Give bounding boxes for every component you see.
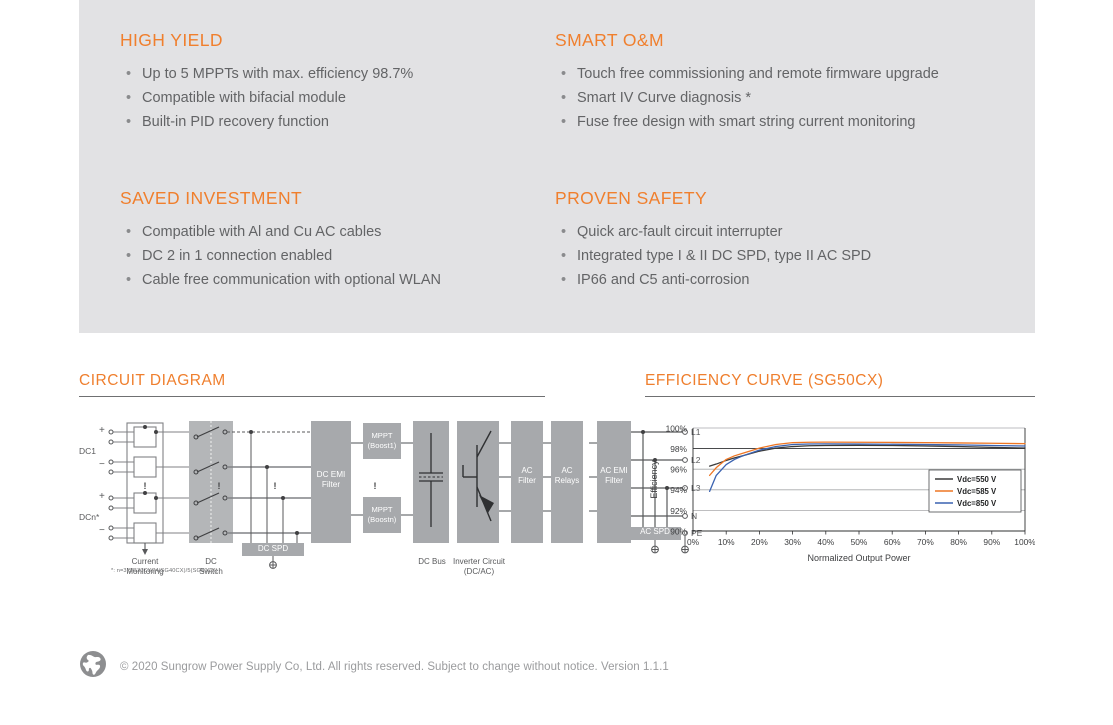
feature-list-proven-safety: •Quick arc-fault circuit interrupter •In…	[555, 222, 1010, 291]
block-inverter-circuit	[457, 421, 499, 543]
feature-list-saved-investment: •Compatible with Al and Cu AC cables •DC…	[120, 222, 555, 291]
bullet-icon: •	[561, 246, 566, 267]
bullet-icon: •	[126, 88, 131, 109]
block-label-dc-spd: DC SPD	[242, 544, 304, 553]
feature-item: •Fuse free design with smart string curr…	[555, 112, 1007, 133]
x-axis-tick-label: 50%	[851, 537, 868, 547]
feature-item: •Quick arc-fault circuit interrupter	[555, 222, 1007, 243]
section-title-efficiency-curve: EFFICIENCY CURVE (SG50CX)	[645, 372, 883, 390]
y-axis-tick-label: 90%	[670, 526, 687, 536]
feature-title-smart-om: SMART O&M	[555, 30, 1010, 51]
x-axis-tick-label: 40%	[817, 537, 834, 547]
feature-list-smart-om: •Touch free commissioning and remote fir…	[555, 64, 1010, 133]
bullet-icon: •	[126, 222, 131, 243]
x-axis-tick-label: 100%	[1014, 537, 1035, 547]
feature-block-saved-investment: SAVED INVESTMENT •Compatible with Al and…	[120, 188, 555, 294]
x-axis-tick-label: 20%	[751, 537, 768, 547]
svg-text:(Boostn): (Boostn)	[368, 515, 397, 524]
y-axis-tick-label: 96%	[670, 465, 687, 475]
page-footer: © 2020 Sungrow Power Supply Co, Ltd. All…	[79, 650, 669, 683]
warning-icon: !	[374, 481, 377, 491]
terminal-plus-dc1: +	[99, 425, 105, 436]
bullet-icon: •	[561, 270, 566, 291]
legend-label: Vdc=550 V	[957, 475, 997, 484]
feature-item: •Built-in PID recovery function	[120, 112, 555, 133]
feature-block-high-yield: HIGH YIELD •Up to 5 MPPTs with max. effi…	[120, 30, 555, 136]
feature-list-high-yield: •Up to 5 MPPTs with max. efficiency 98.7…	[120, 64, 555, 133]
feature-item-text: Cable free communication with optional W…	[142, 272, 441, 288]
feature-item: •Compatible with bifacial module	[120, 88, 555, 109]
circuit-footnote: *: n=3(SG33CX)/4(SG40CX)/5(SG50CX)	[111, 568, 218, 574]
terminal-minus-dcn: −	[99, 525, 105, 536]
feature-highlights-panel: HIGH YIELD •Up to 5 MPPTs with max. effi…	[79, 0, 1035, 333]
x-axis-title: Normalized Output Power	[807, 553, 910, 563]
bullet-icon: •	[561, 112, 566, 133]
svg-text:Filter: Filter	[322, 480, 340, 489]
bullet-icon: •	[126, 64, 131, 85]
block-label-inverter-circuit: Inverter Circuit(DC/AC)	[437, 557, 521, 576]
feature-item: •Integrated type I & II DC SPD, type II …	[555, 246, 1007, 267]
y-axis-tick-label: 92%	[670, 506, 687, 516]
y-axis-tick-label: 94%	[670, 485, 687, 495]
legend-label: Vdc=850 V	[957, 499, 997, 508]
feature-item-text: Up to 5 MPPTs with max. efficiency 98.7%	[142, 66, 413, 82]
x-axis-tick-label: 80%	[950, 537, 967, 547]
feature-item: •Up to 5 MPPTs with max. efficiency 98.7…	[120, 64, 555, 85]
feature-item: •IP66 and C5 anti-corrosion	[555, 270, 1007, 291]
feature-block-proven-safety: PROVEN SAFETY •Quick arc-fault circuit i…	[555, 188, 1010, 294]
feature-block-smart-om: SMART O&M •Touch free commissioning and …	[555, 30, 1010, 136]
circuit-diagram: ! ! ! ! DC EMI Filter MPPT (Boost1) MPPT…	[79, 415, 599, 575]
bullet-icon: •	[561, 88, 566, 109]
feature-title-saved-investment: SAVED INVESTMENT	[120, 188, 555, 209]
bullet-icon: •	[561, 64, 566, 85]
section-divider-efficiency	[645, 396, 1035, 397]
x-axis-tick-label: 90%	[983, 537, 1000, 547]
svg-text:Filter: Filter	[605, 476, 623, 485]
x-axis-tick-label: 0%	[687, 537, 700, 547]
x-axis-tick-label: 10%	[718, 537, 735, 547]
feature-item-text: Compatible with Al and Cu AC cables	[142, 224, 381, 240]
y-axis-tick-label: 98%	[670, 444, 687, 454]
feature-item-text: Compatible with bifacial module	[142, 90, 346, 106]
y-axis-tick-label: 100%	[666, 423, 688, 433]
bullet-icon: •	[561, 222, 566, 243]
feature-item: •Touch free commissioning and remote fir…	[555, 64, 1007, 85]
efficiency-chart: 90%92%94%96%98%100%0%10%20%30%40%50%60%7…	[645, 418, 1035, 578]
feature-item-text: DC 2 in 1 connection enabled	[142, 248, 332, 264]
feature-item: •Compatible with Al and Cu AC cables	[120, 222, 555, 243]
terminal-plus-dcn: +	[99, 491, 105, 502]
feature-item-text: Touch free commissioning and remote firm…	[577, 66, 939, 82]
feature-item-text: IP66 and C5 anti-corrosion	[577, 272, 750, 288]
circuit-input-label-dc1: DC1	[79, 446, 96, 456]
block-label-mppt-boostn: MPPT	[371, 505, 392, 514]
feature-item: •Cable free communication with optional …	[120, 270, 555, 291]
feature-title-proven-safety: PROVEN SAFETY	[555, 188, 1010, 209]
section-divider-circuit	[79, 396, 545, 397]
globe-icon	[79, 650, 107, 683]
block-label-dc-emi-filter: DC EMI	[317, 470, 346, 479]
x-axis-tick-label: 70%	[917, 537, 934, 547]
legend-label: Vdc=585 V	[957, 487, 997, 496]
warning-icon: !	[274, 481, 277, 491]
bullet-icon: •	[126, 246, 131, 267]
feature-grid: HIGH YIELD •Up to 5 MPPTs with max. effi…	[120, 30, 1010, 294]
footer-copyright-text: © 2020 Sungrow Power Supply Co, Ltd. All…	[120, 661, 669, 673]
svg-text:(Boost1): (Boost1)	[368, 441, 397, 450]
feature-item-text: Integrated type I & II DC SPD, type II A…	[577, 248, 871, 264]
y-axis-title: Efficiency	[649, 460, 659, 499]
x-axis-tick-label: 60%	[884, 537, 901, 547]
warning-icon: !	[144, 481, 147, 491]
feature-title-high-yield: HIGH YIELD	[120, 30, 555, 51]
bullet-icon: •	[126, 112, 131, 133]
section-title-circuit-diagram: CIRCUIT DIAGRAM	[79, 372, 226, 390]
circuit-input-label-dcn: DCn*	[79, 512, 99, 522]
x-axis-tick-label: 30%	[784, 537, 801, 547]
feature-item-text: Quick arc-fault circuit interrupter	[577, 224, 782, 240]
efficiency-chart-svg: 90%92%94%96%98%100%0%10%20%30%40%50%60%7…	[645, 418, 1035, 578]
feature-item-text: Smart IV Curve diagnosis *	[577, 90, 751, 106]
feature-item: •DC 2 in 1 connection enabled	[120, 246, 555, 267]
warning-icon: !	[218, 481, 221, 491]
block-label-ac-emi-filter: AC EMI	[600, 466, 628, 475]
feature-item-text: Fuse free design with smart string curre…	[577, 114, 915, 130]
bullet-icon: •	[126, 270, 131, 291]
block-label-mppt-boost1: MPPT	[371, 431, 392, 440]
feature-item: •Smart IV Curve diagnosis *	[555, 88, 1007, 109]
terminal-minus-dc1: −	[99, 459, 105, 470]
feature-item-text: Built-in PID recovery function	[142, 114, 329, 130]
